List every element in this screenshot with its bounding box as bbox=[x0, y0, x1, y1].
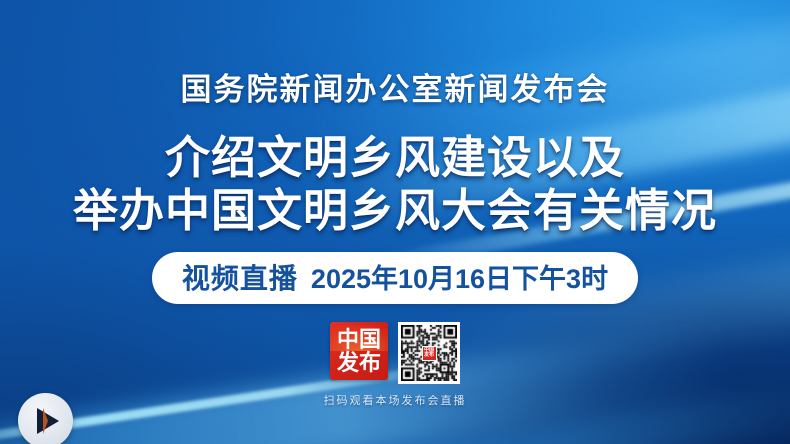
qr-code[interactable]: 中国 发布 bbox=[398, 322, 460, 384]
qr-center-line-2: 发布 bbox=[424, 353, 434, 358]
qr-code-center-logo: 中国 发布 bbox=[422, 346, 437, 361]
play-icon bbox=[37, 408, 59, 434]
poster-headline: 介绍文明乡风建设以及 举办中国文明乡风大会有关情况 bbox=[73, 131, 717, 237]
play-button[interactable] bbox=[18, 393, 73, 444]
scan-caption: 扫码观看本场发布会直播 bbox=[324, 392, 467, 408]
china-release-logo-line-2: 发布 bbox=[337, 351, 381, 374]
live-broadcast-label: 视频直播 bbox=[182, 257, 298, 297]
poster-kicker: 国务院新闻办公室新闻发布会 bbox=[181, 64, 610, 109]
live-broadcast-datetime: 2025年10月16日下午3时 bbox=[311, 257, 608, 296]
poster-content: 国务院新闻办公室新闻发布会 介绍文明乡风建设以及 举办中国文明乡风大会有关情况 … bbox=[0, 0, 790, 444]
live-broadcast-pill: 视频直播 2025年10月16日下午3时 bbox=[152, 252, 638, 304]
press-conference-poster: 国务院新闻办公室新闻发布会 介绍文明乡风建设以及 举办中国文明乡风大会有关情况 … bbox=[0, 0, 790, 444]
headline-line-2: 举办中国文明乡风大会有关情况 bbox=[73, 184, 717, 237]
china-release-logo-line-1: 中国 bbox=[337, 328, 381, 351]
play-icon-accent bbox=[43, 408, 48, 434]
brand-and-qr-group: 中国 发布 中国 发布 bbox=[330, 322, 460, 384]
headline-line-1: 介绍文明乡风建设以及 bbox=[73, 131, 717, 184]
china-release-logo: 中国 发布 bbox=[330, 322, 388, 380]
